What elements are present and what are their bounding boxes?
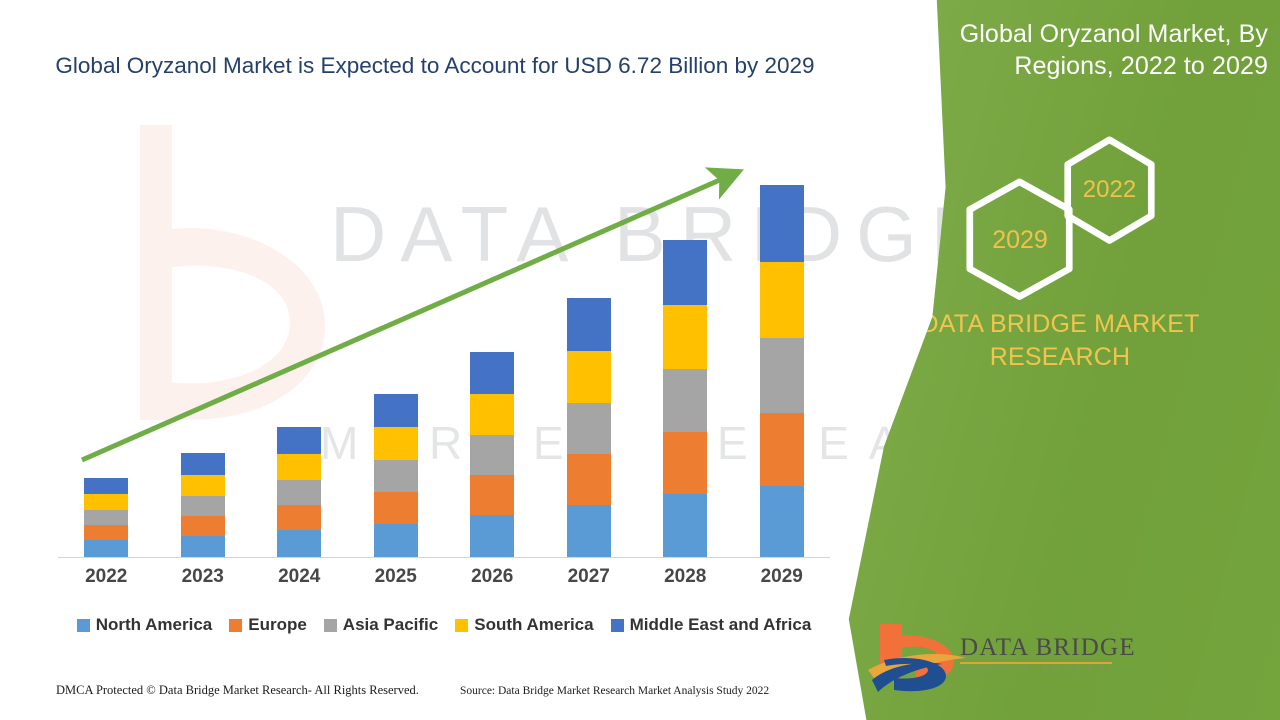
branding-panel: Global Oryzanol Market, By Regions, 2022…: [840, 0, 1280, 720]
legend-item-north-america[interactable]: North America: [77, 615, 213, 635]
panel-title: Global Oryzanol Market, By Regions, 2022…: [868, 18, 1268, 82]
bar-segment-middle-east-and-africa: [663, 240, 707, 305]
legend-swatch-icon: [77, 619, 90, 632]
bar-segment-asia-pacific: [567, 403, 611, 454]
x-tick-2026: 2026: [460, 566, 524, 588]
bar-segment-north-america: [663, 494, 707, 557]
bar-segment-asia-pacific: [84, 510, 128, 525]
copyright-notice: DMCA Protected © Data Bridge Market Rese…: [56, 683, 419, 698]
x-tick-2025: 2025: [364, 566, 428, 588]
logo-divider: [960, 662, 1112, 664]
bar-2023: [181, 453, 225, 557]
bar-segment-south-america: [181, 475, 225, 496]
data-bridge-logo: DATA BRIDGE MARKET RESEARCH: [862, 618, 1162, 696]
chart-legend: North AmericaEuropeAsia PacificSouth Ame…: [58, 615, 830, 635]
x-tick-2024: 2024: [267, 566, 331, 588]
bar-segment-north-america: [470, 515, 514, 557]
x-tick-2023: 2023: [171, 566, 235, 588]
bar-segment-asia-pacific: [277, 480, 321, 505]
bar-segment-north-america: [374, 524, 418, 557]
source-notice: Source: Data Bridge Market Research Mark…: [460, 685, 769, 697]
bar-segment-asia-pacific: [663, 369, 707, 432]
bar-segment-south-america: [663, 305, 707, 369]
bar-segment-middle-east-and-africa: [374, 394, 418, 427]
bar-segment-south-america: [374, 427, 418, 460]
legend-swatch-icon: [455, 619, 468, 632]
bar-segment-south-america: [84, 494, 128, 510]
bar-segment-middle-east-and-africa: [470, 352, 514, 394]
bar-2024: [277, 427, 321, 557]
bar-segment-middle-east-and-africa: [84, 478, 128, 494]
bar-segment-asia-pacific: [470, 435, 514, 475]
legend-label: North America: [96, 615, 213, 635]
bar-segment-north-america: [84, 540, 128, 557]
hexagon-2022-label: 2022: [1083, 176, 1136, 204]
hexagon-2029-label: 2029: [992, 226, 1048, 255]
legend-label: Middle East and Africa: [630, 615, 812, 635]
legend-swatch-icon: [229, 619, 242, 632]
legend-item-europe[interactable]: Europe: [229, 615, 307, 635]
hexagon-group: 2022 2029: [960, 130, 1190, 300]
bar-segment-middle-east-and-africa: [760, 185, 804, 262]
hexagon-2022: 2022: [1062, 136, 1157, 244]
plot-area: [58, 160, 830, 558]
bar-2026: [470, 352, 514, 557]
chart-region: DATA BRIDGE MARKET RESEARCH Global Oryza…: [0, 0, 860, 720]
legend-label: South America: [474, 615, 593, 635]
bar-segment-europe: [470, 475, 514, 515]
logo-name: DATA BRIDGE: [960, 634, 1136, 662]
bar-segment-middle-east-and-africa: [567, 298, 611, 351]
bar-segment-middle-east-and-africa: [277, 427, 321, 454]
legend-swatch-icon: [324, 619, 337, 632]
legend-item-south-america[interactable]: South America: [455, 615, 593, 635]
x-tick-2022: 2022: [74, 566, 138, 588]
x-tick-2029: 2029: [750, 566, 814, 588]
logo-subtitle: MARKET RESEARCH: [962, 665, 1134, 676]
bar-segment-south-america: [277, 454, 321, 480]
page-title: Global Oryzanol Market is Expected to Ac…: [40, 50, 830, 83]
bar-segment-north-america: [277, 530, 321, 557]
bar-group: [58, 160, 830, 557]
bar-segment-europe: [663, 432, 707, 494]
bar-segment-asia-pacific: [181, 496, 225, 516]
bar-segment-north-america: [181, 536, 225, 557]
bar-segment-north-america: [760, 486, 804, 557]
bar-segment-europe: [181, 516, 225, 536]
x-tick-2028: 2028: [653, 566, 717, 588]
bar-segment-europe: [277, 505, 321, 530]
bar-segment-north-america: [567, 505, 611, 557]
legend-item-middle-east-and-africa[interactable]: Middle East and Africa: [611, 615, 812, 635]
legend-label: Asia Pacific: [343, 615, 438, 635]
bar-segment-europe: [374, 492, 418, 524]
legend-item-asia-pacific[interactable]: Asia Pacific: [324, 615, 438, 635]
x-axis-line: [58, 557, 830, 558]
bar-2025: [374, 394, 418, 557]
brand-name: DATA BRIDGE MARKET RESEARCH: [860, 308, 1260, 374]
bar-2022: [84, 478, 128, 557]
bar-segment-europe: [760, 413, 804, 486]
bar-segment-south-america: [470, 394, 514, 435]
bar-segment-asia-pacific: [760, 338, 804, 413]
bar-segment-europe: [567, 454, 611, 505]
bar-segment-middle-east-and-africa: [181, 453, 225, 475]
bar-2027: [567, 298, 611, 557]
bar-segment-asia-pacific: [374, 460, 418, 492]
legend-swatch-icon: [611, 619, 624, 632]
bar-segment-europe: [84, 525, 128, 540]
hexagon-2029: 2029: [965, 178, 1075, 302]
x-axis-labels: 20222023202420252026202720282029: [58, 566, 830, 588]
legend-label: Europe: [248, 615, 307, 635]
bar-2028: [663, 240, 707, 557]
bar-segment-south-america: [760, 262, 804, 338]
bar-segment-south-america: [567, 351, 611, 403]
bar-2029: [760, 185, 804, 557]
chart-infographic-page: DATA BRIDGE MARKET RESEARCH Global Oryza…: [0, 0, 1280, 720]
x-tick-2027: 2027: [557, 566, 621, 588]
